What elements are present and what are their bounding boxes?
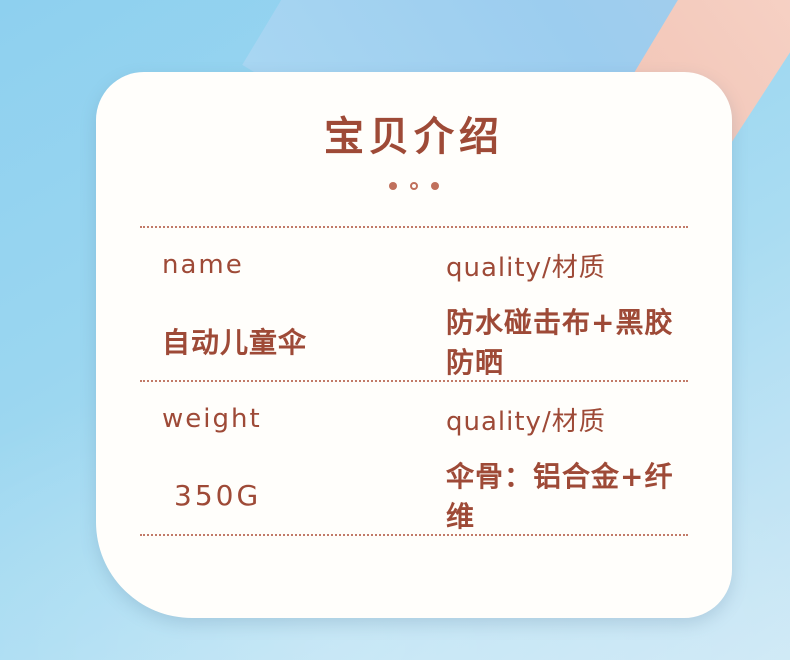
spec-label-cell-left-2: weight: [140, 404, 438, 434]
spec-value-cell-left-1: 自动儿童伞: [140, 321, 438, 361]
spec-label-cell-left-1: name: [140, 250, 438, 280]
spec-table: name quality/材质 自动儿童伞 防水碰击布+黑胶防晒: [132, 226, 696, 536]
page-title: 宝贝介绍: [132, 72, 696, 162]
spec-value-row-1: 自动儿童伞 防水碰击布+黑胶防晒: [140, 302, 688, 380]
spec-value-frame: 伞骨：铝合金+纤维: [446, 460, 673, 533]
title-decoration-dots: [132, 182, 696, 190]
spec-value-row-2: 350G 伞骨：铝合金+纤维: [140, 456, 688, 534]
spec-label-cell-right-2: quality/材质: [438, 401, 688, 438]
spec-label-quality-1: quality/材质: [446, 253, 606, 283]
spec-label-name: name: [162, 250, 244, 280]
spec-value-weight: 350G: [162, 479, 261, 512]
spec-value-cell-right-2: 伞骨：铝合金+纤维: [438, 455, 688, 535]
spec-label-cell-right-1: quality/材质: [438, 247, 688, 284]
decor-dot-filled-left: [389, 182, 397, 190]
product-info-card: 宝贝介绍 name quality/材质: [96, 72, 732, 618]
spec-value-cell-right-1: 防水碰击布+黑胶防晒: [438, 301, 688, 381]
spec-value-product-name: 自动儿童伞: [162, 326, 307, 359]
spec-value-cell-left-2: 350G: [140, 479, 438, 512]
card-content: 宝贝介绍 name quality/材质: [96, 72, 732, 618]
decor-dot-hollow-center: [410, 182, 418, 190]
spec-label-row-2: weight quality/材质: [140, 382, 688, 456]
product-detail-banner: 宝贝介绍 name quality/材质: [0, 0, 790, 660]
decor-dot-filled-right: [431, 182, 439, 190]
spec-label-weight: weight: [162, 404, 262, 434]
spec-label-quality-2: quality/材质: [446, 407, 606, 437]
spec-label-row-1: name quality/材质: [140, 228, 688, 302]
spec-value-material: 防水碰击布+黑胶防晒: [446, 306, 673, 379]
